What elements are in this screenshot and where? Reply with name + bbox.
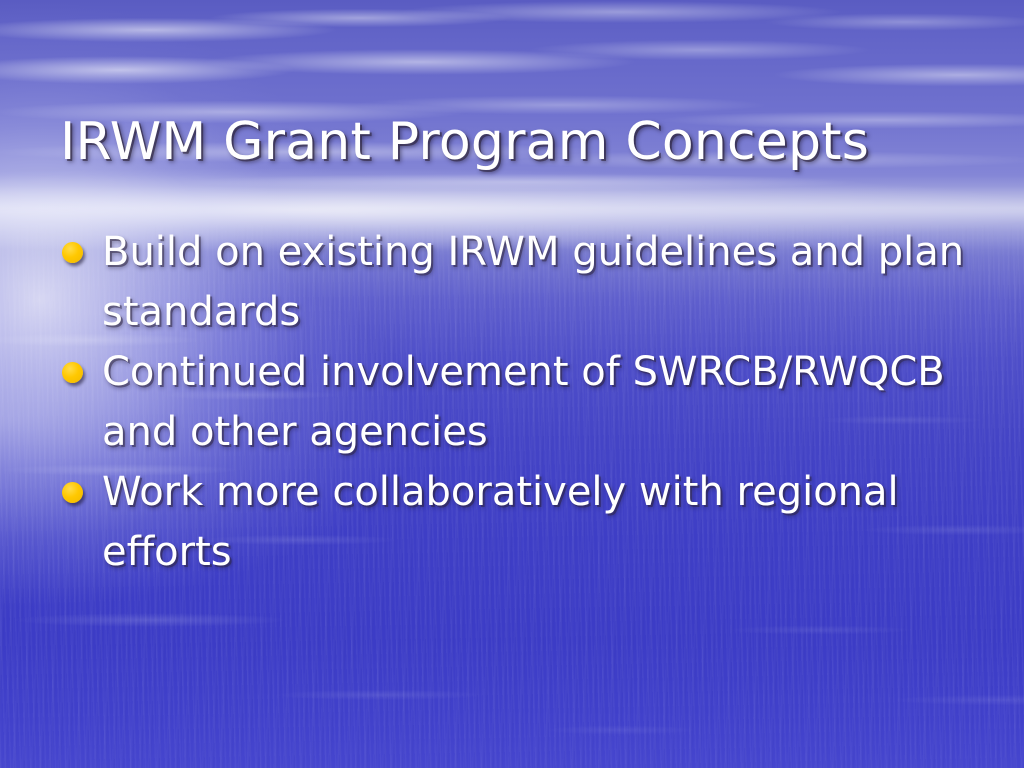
bullet-text: Build on existing IRWM guidelines and pl…: [102, 222, 986, 342]
bullet-item: Work more collaboratively with regional …: [56, 462, 986, 582]
bullet-item: Continued involvement of SWRCB/RWQCB and…: [56, 342, 986, 462]
slide-bullet-list: Build on existing IRWM guidelines and pl…: [56, 222, 986, 582]
disc-bullet-icon: [62, 242, 83, 263]
bullet-item: Build on existing IRWM guidelines and pl…: [56, 222, 986, 342]
disc-bullet-icon: [62, 362, 83, 383]
presentation-slide: IRWM Grant Program Concepts Build on exi…: [0, 0, 1024, 768]
bullet-text: Work more collaboratively with regional …: [102, 462, 986, 582]
slide-title: IRWM Grant Program Concepts: [60, 111, 970, 173]
disc-bullet-icon: [62, 482, 83, 503]
bullet-text: Continued involvement of SWRCB/RWQCB and…: [102, 342, 986, 462]
